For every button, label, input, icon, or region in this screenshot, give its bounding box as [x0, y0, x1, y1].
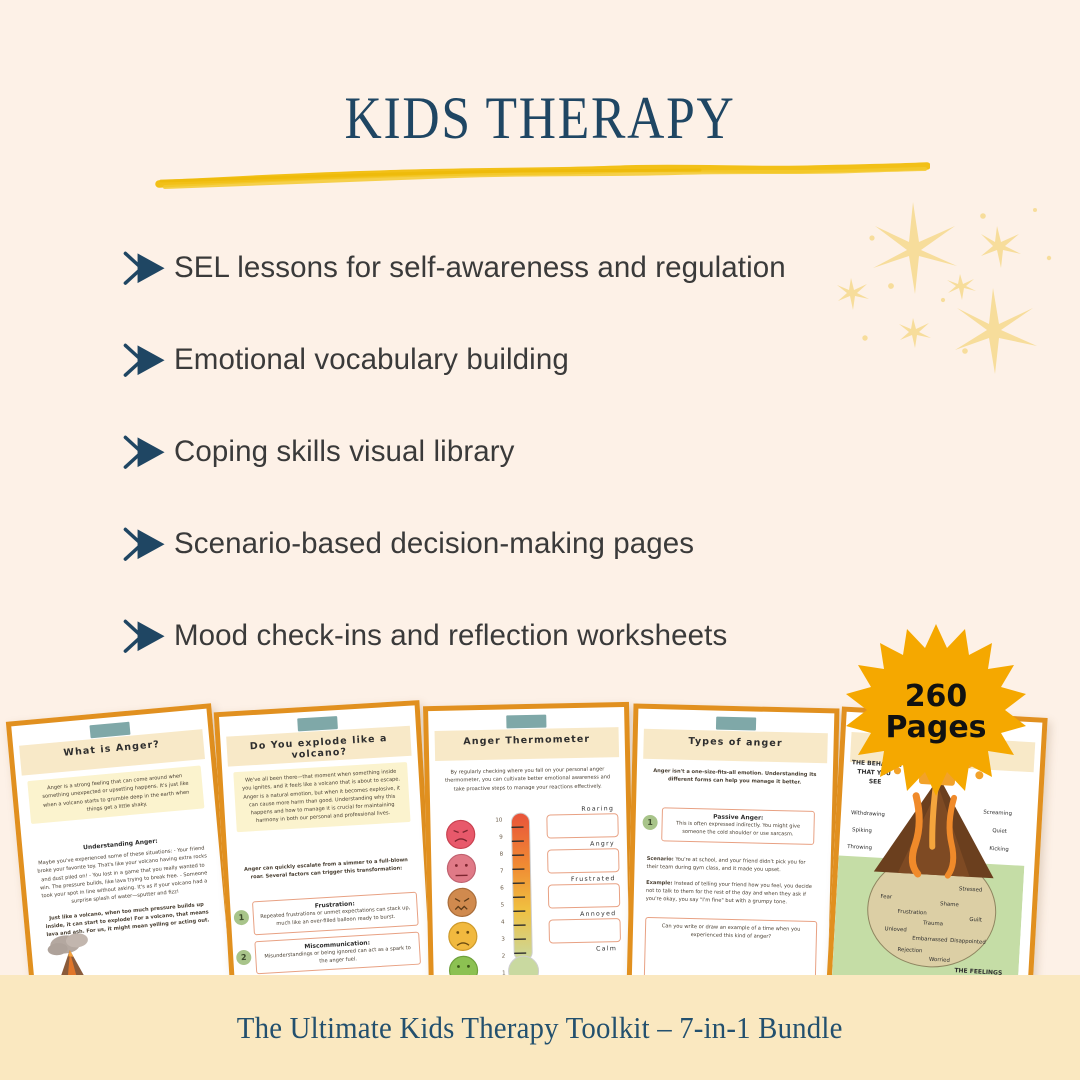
mood-label: Calm	[549, 945, 621, 954]
badge-unit: Pages	[885, 712, 986, 744]
frustrated-face-icon	[448, 888, 477, 917]
mood-write-box[interactable]	[547, 848, 619, 874]
footer-banner: The Ultimate Kids Therapy Toolkit – 7-in…	[0, 975, 1080, 1080]
intro-text: By regularly checking where you fall on …	[441, 765, 613, 793]
intro-text: Anger is a strong feeling that can come …	[34, 771, 198, 819]
mood-label: Frustrated	[548, 875, 620, 884]
anger-type-desc: This is often expressed indirectly. You …	[667, 819, 808, 839]
intro-box: Anger is a strong feeling that can come …	[27, 765, 204, 824]
mood-label: Roaring	[546, 805, 618, 814]
feature-item: Scenario-based decision-making pages	[120, 498, 910, 590]
intro-text: We've all been there—that moment when so…	[240, 767, 405, 826]
intro-box: We've all been there—that moment when so…	[233, 762, 410, 832]
scale-numbers: 10 9 8 7 6 5 4 3 2 1	[480, 818, 506, 988]
svg-text:Kicking: Kicking	[989, 846, 1009, 853]
mood-write-box[interactable]	[546, 813, 618, 839]
feature-item: SEL lessons for self-awareness and regul…	[120, 222, 910, 314]
intro-text: Anger isn't a one-size-fits-all emotion.…	[649, 767, 821, 788]
footer-title: The Ultimate Kids Therapy Toolkit – 7-in…	[237, 1010, 843, 1046]
svg-text:Fear: Fear	[880, 894, 893, 901]
trigger-item: 1 Frustration: Repeated frustrations or …	[239, 892, 419, 936]
double-chevron-arrow-icon	[120, 432, 174, 473]
mood-label-list: Roaring Angry Frustrated Annoyed Calm	[546, 805, 621, 954]
svg-text:Unloved: Unloved	[884, 926, 906, 933]
tape-tab-icon	[506, 715, 546, 729]
feature-list: SEL lessons for self-awareness and regul…	[120, 222, 910, 682]
svg-text:Guilt: Guilt	[969, 917, 982, 924]
worksheet-card-do-you-explode[interactable]: Do You explode like a volcano? We've all…	[214, 700, 437, 998]
badge-count: 260	[905, 681, 968, 713]
svg-text:Quiet: Quiet	[992, 828, 1007, 835]
face-scale	[442, 818, 482, 994]
step-number: 1	[642, 815, 657, 830]
worksheet-card-types-of-anger[interactable]: Types of anger Anger isn't a one-size-fi…	[627, 704, 840, 995]
tape-tab-icon	[716, 717, 756, 731]
feature-item-label: Scenario-based decision-making pages	[174, 527, 694, 561]
step-number: 1	[233, 910, 249, 926]
svg-text:Throwing: Throwing	[846, 844, 872, 851]
reflection-prompt: Can you write or draw an example of a ti…	[650, 922, 812, 942]
feature-item-label: Emotional vocabulary building	[174, 343, 569, 377]
page-title: KIDS THERAPY	[76, 84, 1005, 153]
mood-write-box[interactable]	[549, 918, 621, 944]
tape-tab-icon	[297, 716, 338, 731]
double-chevron-arrow-icon	[120, 616, 174, 657]
scenario-label: Scenario:	[647, 856, 674, 863]
lead-text: Anger can quickly escalate from a simmer…	[239, 856, 414, 883]
svg-text:Withdrawing: Withdrawing	[851, 810, 885, 818]
feature-item-label: Mood check-ins and reflection worksheets	[174, 619, 727, 653]
svg-text:Screaming: Screaming	[983, 810, 1012, 818]
body-text: Maybe you've experienced some of these s…	[34, 844, 212, 909]
svg-text:Trauma: Trauma	[922, 920, 943, 927]
angry-face-icon	[446, 820, 475, 849]
svg-text:Worried: Worried	[929, 957, 950, 964]
double-chevron-arrow-icon	[120, 248, 174, 289]
feature-item-label: SEL lessons for self-awareness and regul…	[174, 251, 786, 285]
svg-text:Stressed: Stressed	[959, 886, 983, 893]
worksheet-card-anger-thermometer[interactable]: Anger Thermometer By regularly checking …	[423, 702, 635, 994]
double-chevron-arrow-icon	[120, 340, 174, 381]
svg-text:Spiking: Spiking	[852, 827, 872, 834]
mood-write-box[interactable]	[548, 883, 620, 909]
anger-type-item: 1 Passive Anger: This is often expressed…	[648, 807, 815, 845]
example-label: Example:	[646, 879, 673, 886]
feature-item: Emotional vocabulary building	[120, 314, 910, 406]
page-count-badge: 260 Pages	[846, 622, 1026, 802]
sad-face-icon	[449, 922, 478, 951]
svg-text:Shame: Shame	[940, 901, 960, 908]
worksheet-card-what-is-anger[interactable]: What is Anger? Anger is a strong feeling…	[6, 703, 236, 999]
poster-canvas: KIDS THERAPY SEL lessons for self-awa	[0, 0, 1080, 1080]
step-number: 2	[236, 949, 252, 965]
trigger-item: 2 Miscommunication: Misunderstandings or…	[241, 931, 421, 975]
upset-face-icon	[447, 854, 476, 883]
double-chevron-arrow-icon	[120, 524, 174, 565]
feature-item: Coping skills visual library	[120, 406, 910, 498]
feature-item-label: Coping skills visual library	[174, 435, 515, 469]
feature-item: Mood check-ins and reflection worksheets	[120, 590, 910, 682]
thermometer-gradient-icon	[504, 809, 542, 994]
title-underline-icon	[155, 160, 930, 194]
